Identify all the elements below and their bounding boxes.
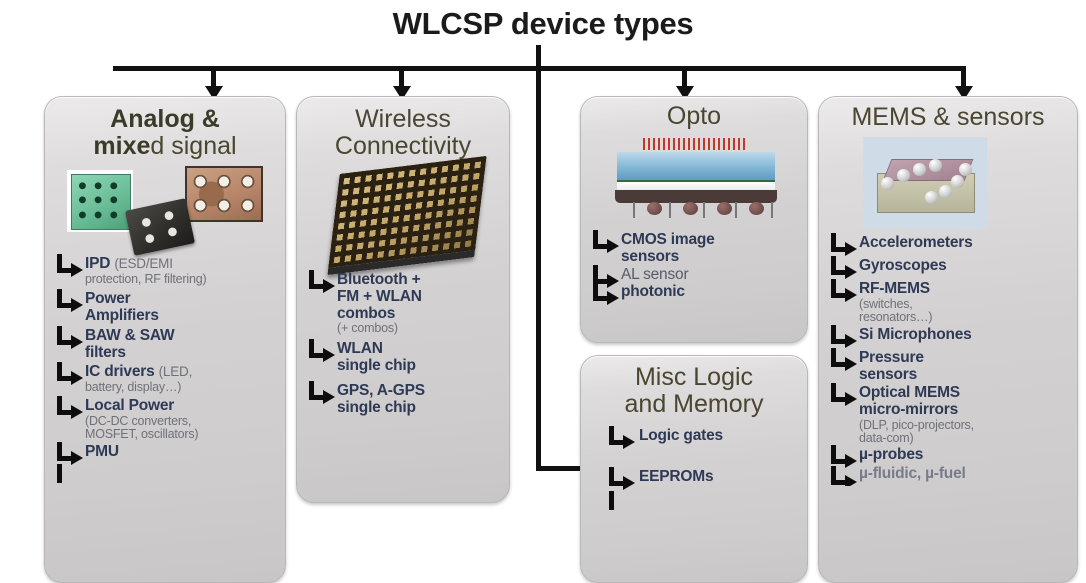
cmos-sensor-cross-section-image bbox=[599, 132, 793, 228]
elbow-arrow-icon bbox=[831, 279, 857, 305]
category-box-wireless[interactable]: Wireless Connectivity Bluetooth + FM + W… bbox=[296, 96, 510, 503]
list-item[interactable]: Bluetooth + FM + WLAN combos (+ combos) bbox=[297, 272, 509, 335]
list-item[interactable]: photonic bbox=[581, 284, 807, 301]
box-title-analog: Analog & mixed signal bbox=[45, 97, 285, 160]
list-item[interactable]: CMOS image sensors bbox=[581, 232, 807, 266]
list-item[interactable]: RF-MEMS (switches, resonators…) bbox=[819, 281, 1077, 325]
copper-die-image bbox=[185, 166, 263, 222]
elbow-arrow-icon bbox=[609, 426, 635, 452]
drop-line-wireless bbox=[399, 66, 404, 88]
elbow-arrow-icon bbox=[309, 270, 335, 296]
elbow-arrow-icon bbox=[57, 326, 83, 352]
list-item[interactable]: IC drivers (LED, battery, display…) bbox=[45, 364, 285, 394]
list-item[interactable]: Gyroscopes bbox=[819, 258, 1077, 275]
elbow-arrow-icon bbox=[831, 383, 857, 409]
list-item-clipped[interactable]: µ-fluidic, µ-fuel bbox=[819, 466, 1077, 486]
elbow-arrow-icon bbox=[57, 289, 83, 315]
elbow-arrow-icon bbox=[57, 254, 83, 280]
list-item[interactable]: EEPROMs bbox=[581, 469, 807, 486]
box-title-wireless: Wireless Connectivity bbox=[297, 97, 509, 160]
drop-line-analog bbox=[211, 66, 216, 88]
category-box-opto[interactable]: Opto CMOS image bbox=[580, 96, 808, 343]
drop-line-opto bbox=[682, 66, 687, 88]
analog-device-photos bbox=[45, 164, 285, 250]
elbow-arrow-icon bbox=[309, 381, 335, 407]
elbow-arrow-icon bbox=[593, 230, 619, 256]
box-title-opto: Opto bbox=[581, 97, 807, 130]
box-title-mems: MEMS & sensors bbox=[819, 97, 1077, 131]
list-item[interactable]: WLAN single chip bbox=[297, 341, 509, 375]
wireless-device-photos bbox=[297, 162, 509, 266]
connector-line-misc bbox=[536, 66, 541, 471]
list-item[interactable]: Local Power (DC-DC converters, MOSFET, o… bbox=[45, 398, 285, 442]
title-stem bbox=[536, 45, 541, 68]
box-title-misc-logic: Misc Logic and Memory bbox=[581, 356, 807, 418]
connector-line-misc-horizontal bbox=[536, 466, 584, 471]
category-box-misc-logic[interactable]: Misc Logic and Memory Logic gates EEPROM… bbox=[580, 355, 808, 583]
list-item-clipped bbox=[581, 487, 807, 505]
list-item[interactable]: Power Amplifiers bbox=[45, 291, 285, 325]
mems-device-photo bbox=[819, 133, 1077, 233]
list-item[interactable]: Accelerometers bbox=[819, 235, 1077, 252]
elbow-arrow-icon bbox=[57, 362, 83, 388]
elbow-arrow-icon bbox=[309, 339, 335, 365]
mems-item-list: Accelerometers Gyroscopes RF-MEMS (switc… bbox=[819, 235, 1077, 486]
analog-item-list: IPD (ESD/EMI protection, RF filtering) P… bbox=[45, 256, 285, 480]
opto-device-photo bbox=[581, 130, 807, 230]
list-item[interactable]: Si Microphones bbox=[819, 327, 1077, 344]
bga-package-image bbox=[327, 156, 486, 275]
dark-package-image bbox=[125, 198, 195, 256]
category-box-analog[interactable]: Analog & mixed signal IPD (ESD/EMI prote… bbox=[44, 96, 286, 583]
elbow-arrow-icon bbox=[609, 491, 635, 517]
mems-die-image bbox=[863, 137, 987, 229]
list-item[interactable]: Pressure sensors bbox=[819, 350, 1077, 384]
list-item[interactable]: BAW & SAW filters bbox=[45, 328, 285, 362]
list-item[interactable]: µ-probes bbox=[819, 447, 1077, 464]
elbow-arrow-icon bbox=[593, 282, 619, 308]
elbow-arrow-icon bbox=[57, 396, 83, 422]
elbow-arrow-icon bbox=[57, 464, 83, 490]
list-item[interactable]: GPS, A-GPS single chip bbox=[297, 383, 509, 417]
list-item[interactable]: Optical MEMS micro-mirrors (DLP, pico-pr… bbox=[819, 385, 1077, 445]
list-item[interactable]: IPD (ESD/EMI protection, RF filtering) bbox=[45, 256, 285, 286]
diagram-canvas: WLCSP device types Analog & mixed signal… bbox=[0, 0, 1086, 581]
elbow-arrow-icon bbox=[831, 348, 857, 374]
ipd-green-die-image bbox=[67, 170, 133, 232]
list-item-clipped bbox=[45, 462, 285, 480]
list-item[interactable]: Logic gates bbox=[581, 428, 807, 445]
page-title: WLCSP device types bbox=[0, 6, 1086, 42]
list-item[interactable]: PMU bbox=[45, 444, 285, 461]
drop-line-mems bbox=[961, 66, 966, 88]
misc-logic-item-list: Logic gates EEPROMs bbox=[581, 428, 807, 505]
list-item[interactable]: AL sensor bbox=[581, 267, 807, 284]
category-box-mems[interactable]: MEMS & sensors Accelerometers bbox=[818, 96, 1078, 583]
elbow-arrow-icon bbox=[831, 466, 857, 486]
wireless-item-list: Bluetooth + FM + WLAN combos (+ combos) … bbox=[297, 272, 509, 417]
opto-item-list: CMOS image sensors AL sensor photonic bbox=[581, 232, 807, 301]
